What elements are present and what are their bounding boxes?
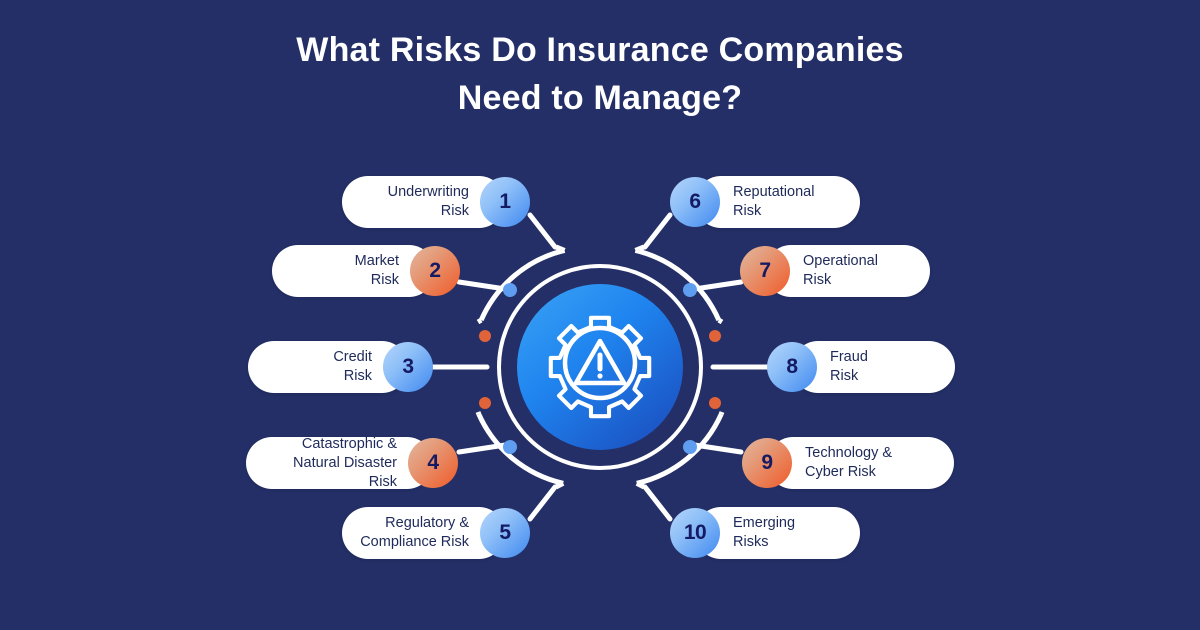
risk-number-7[interactable]: 7	[740, 246, 790, 296]
risk-pill-4[interactable]: Catastrophic & Natural Disaster Risk	[246, 437, 433, 489]
connector-10	[645, 487, 670, 519]
ring-dot-orange-lr	[709, 397, 721, 409]
risk-number-6[interactable]: 6	[670, 177, 720, 227]
ring-hook-bl	[556, 483, 563, 487]
risk-label-6: Reputational Risk	[733, 183, 814, 221]
risk-label-10: Emerging Risks	[733, 514, 795, 552]
risk-number-text-9: 9	[761, 451, 772, 475]
connector-5	[530, 487, 555, 519]
connector-6	[645, 215, 670, 247]
risk-label-1: Underwriting Risk	[388, 183, 469, 221]
hub-diagram	[0, 0, 1200, 630]
risk-item-6[interactable]: Reputational Risk 6	[670, 176, 860, 228]
risk-label-4: Catastrophic & Natural Disaster Risk	[264, 435, 397, 492]
risk-item-4[interactable]: Catastrophic & Natural Disaster Risk 4	[246, 437, 458, 489]
risk-number-text-2: 2	[429, 259, 440, 283]
risk-label-2: Market Risk	[355, 252, 399, 290]
ring-dot-blue-ul	[503, 283, 517, 297]
risk-label-7: Operational Risk	[803, 252, 878, 290]
connector-1	[530, 215, 555, 247]
infographic-canvas: What Risks Do Insurance Companies Need t…	[0, 0, 1200, 630]
risk-number-5[interactable]: 5	[480, 508, 530, 558]
ring-dot-orange-ll	[479, 397, 491, 409]
risk-item-1[interactable]: Underwriting Risk 1	[342, 176, 530, 228]
risk-number-4[interactable]: 4	[408, 438, 458, 488]
risk-number-text-7: 7	[759, 259, 770, 283]
ring-hook-ll	[478, 412, 479, 414]
ring-dot-orange-ur	[709, 330, 721, 342]
ring-hook-lr	[721, 412, 722, 414]
ring-hook-ul	[478, 320, 481, 322]
risk-number-10[interactable]: 10	[670, 508, 720, 558]
risk-item-9[interactable]: Technology & Cyber Risk 9	[742, 437, 954, 489]
risk-item-7[interactable]: Operational Risk 7	[740, 245, 930, 297]
risk-number-text-1: 1	[499, 190, 510, 214]
risk-number-2[interactable]: 2	[410, 246, 460, 296]
risk-number-text-10: 10	[684, 521, 706, 545]
risk-number-text-6: 6	[689, 190, 700, 214]
risk-number-text-3: 3	[402, 355, 413, 379]
ring-hook-tr	[635, 247, 644, 250]
risk-item-8[interactable]: Fraud Risk 8	[767, 341, 955, 393]
risk-label-5: Regulatory & Compliance Risk	[360, 514, 469, 552]
risk-number-text-8: 8	[786, 355, 797, 379]
risk-item-3[interactable]: Credit Risk 3	[248, 341, 433, 393]
ring-hook-tl	[556, 247, 565, 250]
risk-number-3[interactable]: 3	[383, 342, 433, 392]
risk-number-8[interactable]: 8	[767, 342, 817, 392]
ring-dot-orange-ul	[479, 330, 491, 342]
risk-item-2[interactable]: Market Risk 2	[272, 245, 460, 297]
exclamation-dot	[597, 373, 602, 378]
ring-dot-blue-ur	[683, 283, 697, 297]
ring-hook-br	[637, 483, 644, 487]
risk-item-10[interactable]: Emerging Risks 10	[670, 507, 860, 559]
risk-label-9: Technology & Cyber Risk	[805, 444, 892, 482]
risk-label-3: Credit Risk	[333, 348, 372, 386]
ring-hook-ur	[719, 320, 722, 322]
risk-number-text-5: 5	[499, 521, 510, 545]
risk-number-text-4: 4	[427, 451, 438, 475]
risk-item-5[interactable]: Regulatory & Compliance Risk 5	[342, 507, 530, 559]
risk-label-8: Fraud Risk	[830, 348, 868, 386]
ring-dot-blue-lr	[683, 440, 697, 454]
risk-number-9[interactable]: 9	[742, 438, 792, 488]
risk-number-1[interactable]: 1	[480, 177, 530, 227]
risk-pill-9[interactable]: Technology & Cyber Risk	[767, 437, 954, 489]
ring-dot-blue-ll	[503, 440, 517, 454]
